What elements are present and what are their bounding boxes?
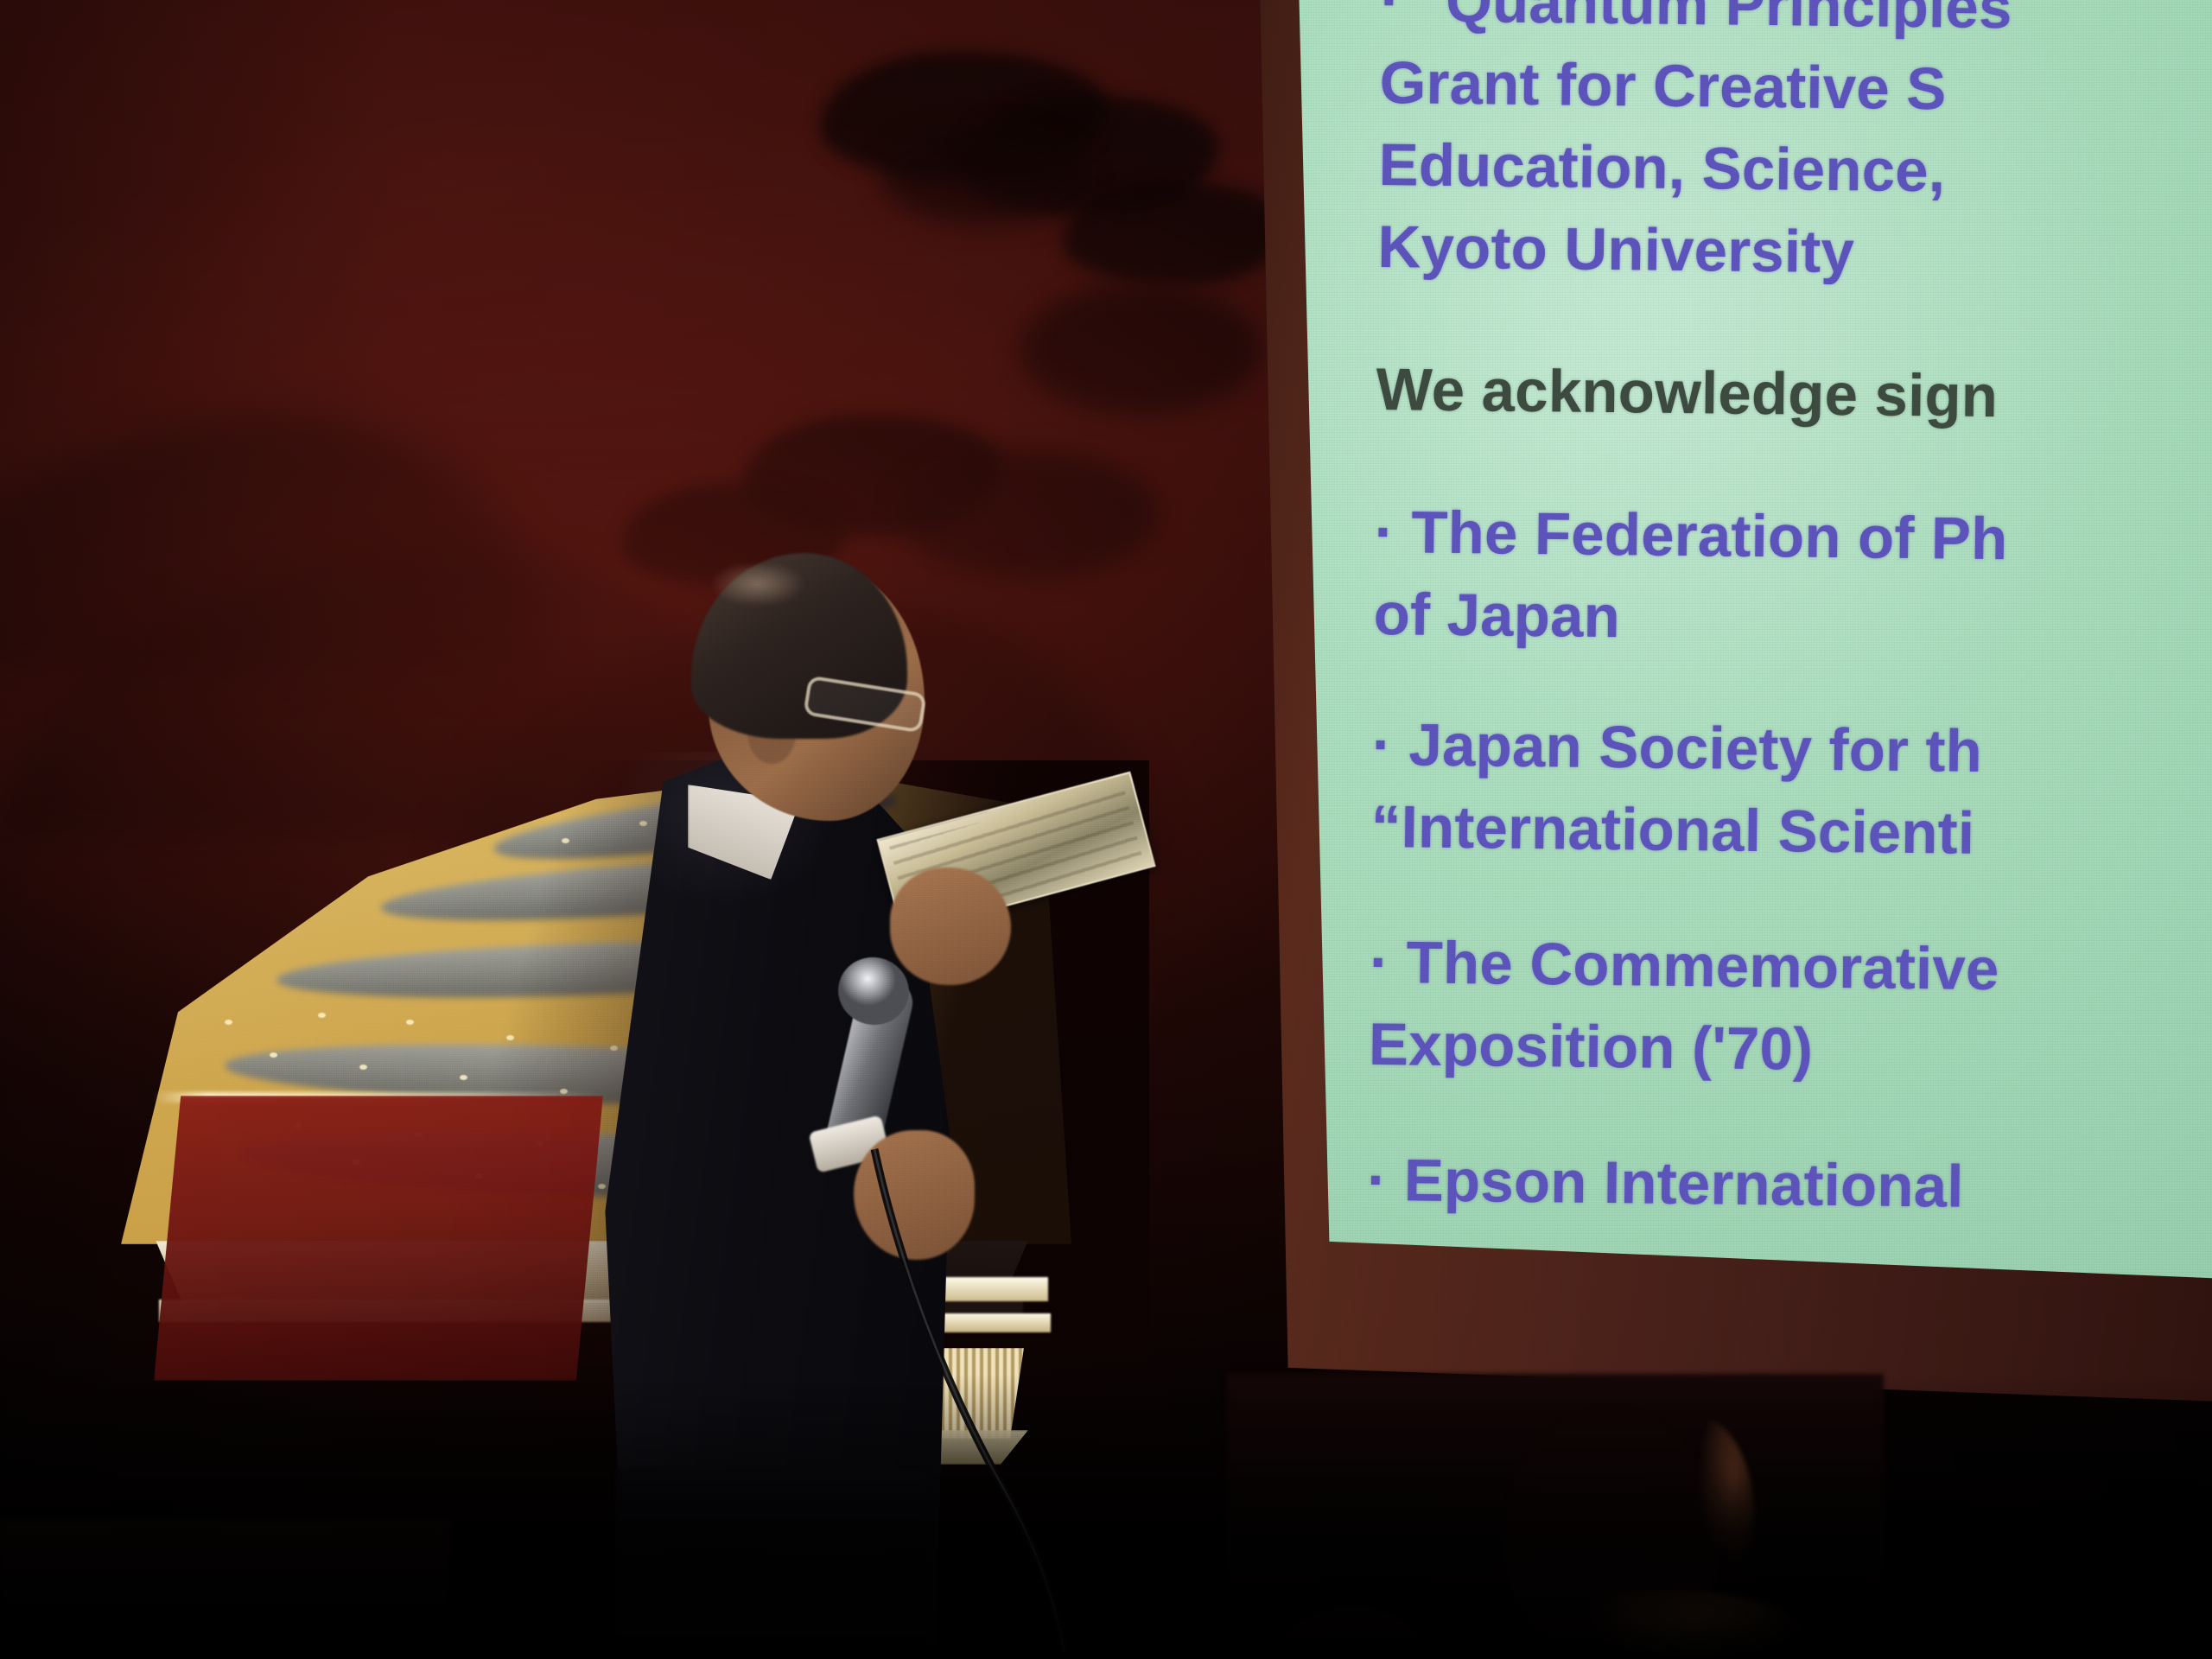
projection-screen-surface: · "Quantum Principles Grant for Creative… — [1287, 0, 2212, 1288]
slide-line-12: · Epson International — [1367, 1139, 2212, 1233]
slide-line-2: Grant for Creative S — [1379, 41, 2212, 136]
slide-line-3: Education, Science, — [1378, 124, 2212, 218]
slide-text-block: · "Quantum Principles Grant for Creative… — [1367, 0, 2212, 1233]
slide-line-11: Exposition ('70) — [1369, 1003, 2212, 1097]
projection-screen: · "Quantum Principles Grant for Creative… — [1234, 0, 2212, 1422]
slide-line-7: of Japan — [1373, 573, 2212, 667]
slide-line-5: We acknowledge sign — [1376, 348, 2212, 442]
slide-line-8: · Japan Society for th — [1371, 703, 2212, 798]
slide-line-9: “International Scienti — [1370, 785, 2212, 880]
red-podium-base — [154, 1096, 603, 1381]
foreground-shadow — [0, 1374, 2212, 1659]
photo-stage: · "Quantum Principles Grant for Creative… — [0, 0, 2212, 1659]
slide-line-4: Kyoto University — [1377, 206, 2212, 300]
slide-line-6: · The Federation of Ph — [1374, 491, 2212, 585]
slide-line-10: · The Commemorative — [1370, 921, 2212, 1015]
